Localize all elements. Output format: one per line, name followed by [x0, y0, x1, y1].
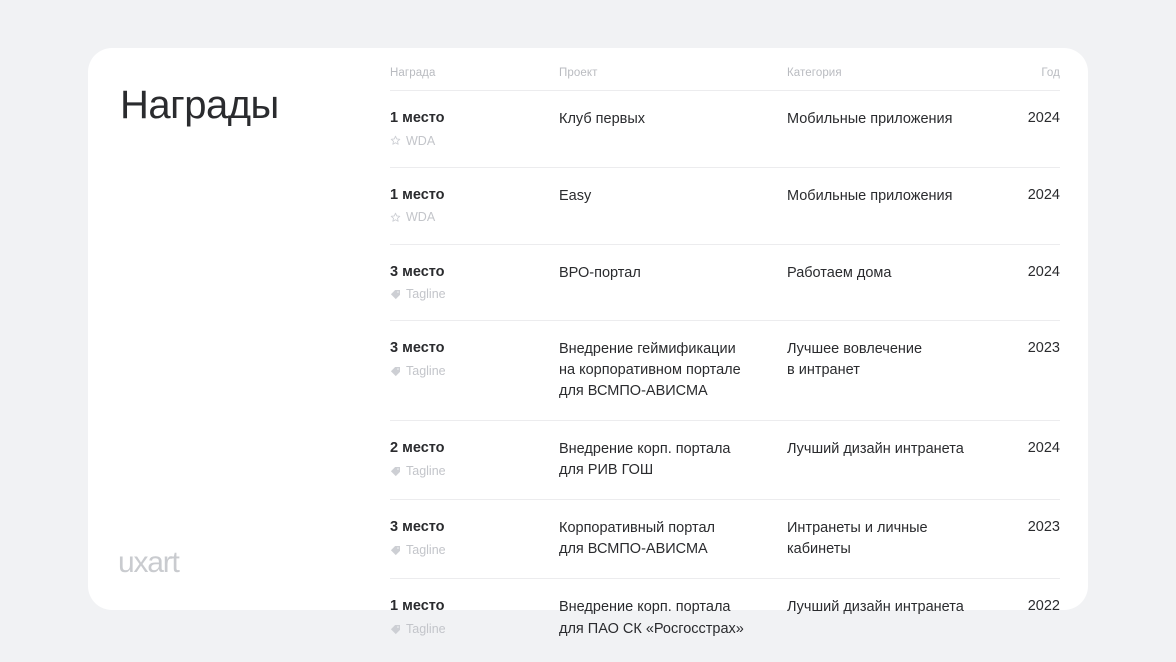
table-row: 2 местоTaglineВнедрение корп. порталадля…: [390, 421, 1060, 500]
award-cell: 3 местоTagline: [390, 339, 559, 379]
column-header-project: Проект: [559, 66, 787, 81]
project-cell: Клуб первых: [559, 109, 787, 130]
category-cell: Лучший дизайн интранета: [787, 597, 993, 618]
table-row: 1 местоWDAEasyМобильные приложения2024: [390, 168, 1060, 245]
year-cell: 2022: [993, 597, 1060, 617]
award-cell: 3 местоTagline: [390, 263, 559, 303]
table-row: 3 местоTaglineВнедрение геймификациина к…: [390, 321, 1060, 421]
year-cell: 2024: [993, 109, 1060, 129]
award-tagline-label: Tagline: [406, 621, 446, 637]
tag-icon: [390, 545, 401, 556]
category-cell: Мобильные приложения: [787, 186, 993, 207]
award-tagline-label: WDA: [406, 209, 435, 225]
tag-icon: [390, 624, 401, 635]
award-tagline-label: Tagline: [406, 542, 446, 558]
award-place: 3 место: [390, 263, 559, 283]
project-cell: Корпоративный порталдля ВСМПО-АВИСМА: [559, 518, 787, 560]
year-cell: 2023: [993, 518, 1060, 538]
tag-icon: [390, 289, 401, 300]
award-tagline-label: Tagline: [406, 286, 446, 302]
award-tagline: Tagline: [390, 542, 559, 558]
award-tagline: Tagline: [390, 621, 559, 637]
page-title: Награды: [120, 83, 279, 127]
table-header-row: Награда Проект Категория Год: [390, 66, 1060, 91]
table-row: 3 местоTaglineВРО-порталРаботаем дома202…: [390, 245, 1060, 322]
table-body: 1 местоWDAКлуб первыхМобильные приложени…: [390, 91, 1060, 658]
award-cell: 3 местоTagline: [390, 518, 559, 558]
project-cell: Внедрение корп. порталадля ПАО СК «Росго…: [559, 597, 787, 639]
award-place: 1 место: [390, 109, 559, 129]
project-cell: Easy: [559, 186, 787, 207]
year-cell: 2023: [993, 339, 1060, 359]
category-cell: Лучшее вовлечениев интранет: [787, 339, 993, 381]
uxart-logo: uxart: [118, 548, 179, 578]
year-cell: 2024: [993, 186, 1060, 206]
award-tagline: WDA: [390, 133, 559, 149]
award-tagline: Tagline: [390, 286, 559, 302]
page-root: Награды uxart Награда Проект Категория Г…: [0, 0, 1176, 662]
category-cell: Работаем дома: [787, 263, 993, 284]
award-place: 3 место: [390, 518, 559, 538]
column-header-award: Награда: [390, 66, 559, 81]
award-cell: 1 местоWDA: [390, 186, 559, 226]
table-row: 1 местоTaglineВнедрение корп. порталадля…: [390, 579, 1060, 657]
column-header-category: Категория: [787, 66, 993, 81]
award-tagline-label: Tagline: [406, 463, 446, 479]
awards-card: Награды uxart Награда Проект Категория Г…: [88, 48, 1088, 610]
year-cell: 2024: [993, 439, 1060, 459]
award-place: 1 место: [390, 597, 559, 617]
tag-icon: [390, 466, 401, 477]
award-tagline: WDA: [390, 209, 559, 225]
category-cell: Интранеты и личныекабинеты: [787, 518, 993, 560]
award-place: 1 место: [390, 186, 559, 206]
awards-table: Награда Проект Категория Год 1 местоWDAК…: [390, 66, 1060, 658]
award-tagline: Tagline: [390, 363, 559, 379]
category-cell: Мобильные приложения: [787, 109, 993, 130]
table-row: 1 местоWDAКлуб первыхМобильные приложени…: [390, 91, 1060, 168]
award-place: 2 место: [390, 439, 559, 459]
star-icon: [390, 212, 401, 223]
column-header-year: Год: [993, 66, 1060, 81]
star-icon: [390, 135, 401, 146]
table-row: 3 местоTaglineКорпоративный порталдля ВС…: [390, 500, 1060, 579]
project-cell: Внедрение корп. порталадля РИВ ГОШ: [559, 439, 787, 481]
award-tagline-label: Tagline: [406, 363, 446, 379]
project-cell: Внедрение геймификациина корпоративном п…: [559, 339, 787, 402]
award-cell: 1 местоTagline: [390, 597, 559, 637]
award-tagline: Tagline: [390, 463, 559, 479]
award-cell: 1 местоWDA: [390, 109, 559, 149]
award-tagline-label: WDA: [406, 133, 435, 149]
category-cell: Лучший дизайн интранета: [787, 439, 993, 460]
award-place: 3 место: [390, 339, 559, 359]
award-cell: 2 местоTagline: [390, 439, 559, 479]
year-cell: 2024: [993, 263, 1060, 283]
project-cell: ВРО-портал: [559, 263, 787, 284]
tag-icon: [390, 366, 401, 377]
